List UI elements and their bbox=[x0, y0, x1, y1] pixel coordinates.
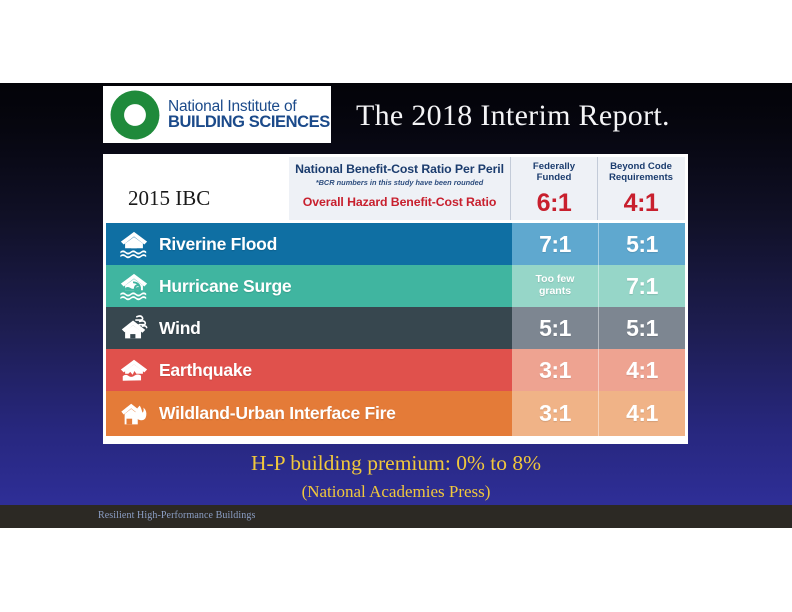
peril-label-cell: Hurricane Surge bbox=[106, 265, 512, 307]
slide-footer: Resilient High-Performance Buildings bbox=[0, 505, 792, 528]
table-row: Riverine Flood7:15:1 bbox=[106, 223, 685, 265]
table-body: Riverine Flood7:15:1Hurricane SurgeToo f… bbox=[106, 223, 685, 440]
house-wind-icon bbox=[119, 313, 149, 343]
bc-label-line2: Requirements bbox=[598, 173, 684, 184]
ratio-cell-beyond-code: 4:1 bbox=[598, 391, 685, 436]
nibs-spiral-logo-icon bbox=[107, 89, 163, 141]
table-row: Wind5:15:1 bbox=[106, 307, 685, 349]
nibs-logo-line2: BUILDING SCIENCES bbox=[168, 114, 330, 131]
footer-label: Resilient High-Performance Buildings bbox=[98, 510, 255, 521]
code-edition-label: 2015 IBC bbox=[128, 186, 210, 211]
table-header-overall-label: Overall Hazard Benefit-Cost Ratio bbox=[289, 195, 510, 209]
overall-ratio-federally-funded: 6:1 bbox=[511, 189, 597, 218]
table-row: Earthquake3:14:1 bbox=[106, 349, 685, 391]
ratio-cell-beyond-code: 7:1 bbox=[598, 265, 685, 307]
nibs-logo: National Institute of BUILDING SCIENCES bbox=[103, 86, 331, 143]
house-cracked-icon bbox=[119, 355, 149, 385]
caption-source: (National Academies Press) bbox=[0, 482, 792, 502]
table-row: Wildland-Urban Interface Fire3:14:1 bbox=[106, 391, 685, 436]
slide-page: National Institute of BUILDING SCIENCES … bbox=[0, 0, 792, 612]
peril-label-cell: Wind bbox=[106, 307, 512, 349]
ratio-cell-federally-funded: 3:1 bbox=[512, 391, 598, 436]
ratio-cell-beyond-code: 4:1 bbox=[598, 349, 685, 391]
peril-name: Wildland-Urban Interface Fire bbox=[159, 403, 396, 424]
column-header-federally-funded-label: Federally Funded bbox=[511, 162, 597, 183]
ratio-cell-beyond-code: 5:1 bbox=[598, 307, 685, 349]
peril-label-cell: Riverine Flood bbox=[106, 223, 512, 265]
ratio-cell-federally-funded: 3:1 bbox=[512, 349, 598, 391]
ratio-cell-federally-funded: Too fewgrants bbox=[512, 265, 598, 307]
nibs-logo-wordmark: National Institute of BUILDING SCIENCES bbox=[168, 99, 330, 131]
house-surge-wave-icon bbox=[119, 271, 149, 301]
table-header-main: National Benefit-Cost Ratio Per Peril *B… bbox=[289, 157, 510, 220]
house-flood-icon bbox=[119, 229, 149, 259]
peril-name: Hurricane Surge bbox=[159, 276, 291, 297]
ff-note-line2: grants bbox=[536, 286, 575, 298]
table-header: 2015 IBC National Benefit-Cost Ratio Per… bbox=[103, 154, 688, 223]
nibs-logo-line1: National Institute of bbox=[168, 99, 330, 115]
house-fire-icon bbox=[119, 399, 149, 429]
table-header-note: *BCR numbers in this study have been rou… bbox=[289, 178, 510, 187]
ratio-cell-federally-funded: 7:1 bbox=[512, 223, 598, 265]
ratio-cell-beyond-code: 5:1 bbox=[598, 223, 685, 265]
peril-name: Earthquake bbox=[159, 360, 252, 381]
column-header-federally-funded: Federally Funded 6:1 bbox=[510, 157, 597, 220]
caption-premium: H-P building premium: 0% to 8% bbox=[0, 451, 792, 476]
column-header-beyond-code-label: Beyond Code Requirements bbox=[598, 162, 684, 183]
table-row: Hurricane SurgeToo fewgrants7:1 bbox=[106, 265, 685, 307]
peril-label-cell: Earthquake bbox=[106, 349, 512, 391]
overall-ratio-beyond-code: 4:1 bbox=[598, 189, 684, 218]
peril-name: Wind bbox=[159, 318, 201, 339]
peril-label-cell: Wildland-Urban Interface Fire bbox=[106, 391, 512, 436]
peril-name: Riverine Flood bbox=[159, 234, 277, 255]
table-header-title: National Benefit-Cost Ratio Per Peril bbox=[289, 162, 510, 176]
ff-label-line2: Funded bbox=[511, 173, 597, 184]
column-header-beyond-code: Beyond Code Requirements 4:1 bbox=[597, 157, 684, 220]
table-header-panel: National Benefit-Cost Ratio Per Peril *B… bbox=[289, 157, 685, 220]
slide-title: The 2018 Interim Report. bbox=[356, 99, 670, 133]
ratio-cell-federally-funded: 5:1 bbox=[512, 307, 598, 349]
benefit-cost-ratio-table: 2015 IBC National Benefit-Cost Ratio Per… bbox=[103, 154, 688, 444]
presentation-slide: National Institute of BUILDING SCIENCES … bbox=[0, 83, 792, 528]
